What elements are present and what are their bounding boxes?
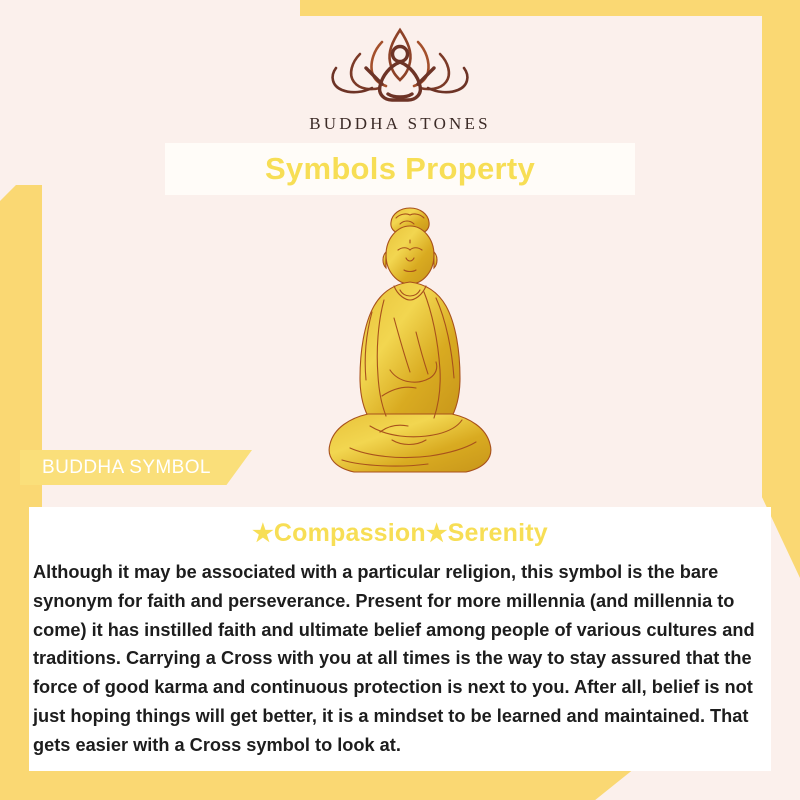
poster-canvas: BUDDHA STONES Symbols Property — [0, 0, 800, 800]
decor-top-bar — [300, 0, 800, 16]
subtitle-word-serenity: Serenity — [448, 519, 548, 547]
ribbon-label: BUDDHA SYMBOL — [20, 457, 211, 479]
title-banner: Symbols Property — [165, 143, 635, 195]
brand-header: BUDDHA STONES — [0, 22, 800, 134]
lotus-meditation-icon — [320, 22, 480, 108]
page-title: Symbols Property — [265, 151, 535, 187]
brand-name: BUDDHA STONES — [0, 114, 800, 134]
section-ribbon: BUDDHA SYMBOL — [20, 450, 252, 485]
content-panel: ★Compassion★Serenity Although it may be … — [29, 507, 771, 771]
subtitle-word-compassion: Compassion — [274, 519, 426, 547]
content-body-text: Although it may be associated with a par… — [33, 558, 767, 759]
content-subtitle: ★Compassion★Serenity — [29, 519, 771, 548]
star-icon-left: ★ — [252, 520, 274, 547]
seated-buddha-icon — [320, 200, 500, 492]
star-icon-right: ★ — [426, 520, 448, 547]
buddha-illustration-svg — [320, 200, 500, 492]
